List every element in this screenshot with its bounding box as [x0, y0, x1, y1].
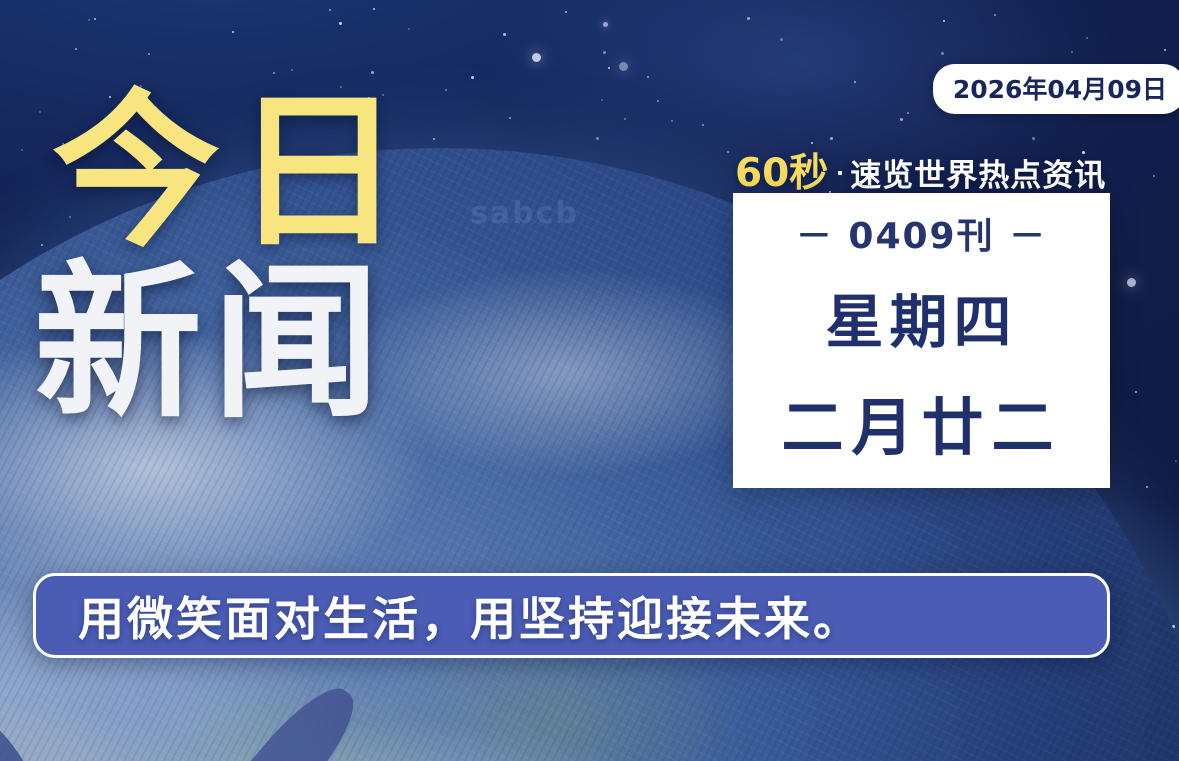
- issue-card: － 0409刊 － 星期四 二月廿二: [733, 193, 1110, 488]
- slogan-bar: 用微笑面对生活，用坚持迎接未来。: [33, 573, 1110, 658]
- tagline-separator: ·: [828, 158, 850, 188]
- tagline-seconds: 60秒: [735, 151, 828, 196]
- tagline-text: 速览世界热点资讯: [850, 158, 1106, 194]
- news-poster: sabcb 今日 新闻 2026年04月09日 60秒·速览世界热点资讯 － 0…: [0, 0, 1179, 761]
- weekday-label: 星期四: [825, 275, 1017, 359]
- title-line-news: 新闻: [34, 263, 472, 424]
- watermark: sabcb: [470, 196, 579, 231]
- page-title: 今日 新闻: [52, 92, 472, 425]
- title-line-today: 今日: [52, 92, 472, 253]
- tagline: 60秒·速览世界热点资讯: [735, 142, 1106, 198]
- lunar-date-label: 二月廿二: [781, 377, 1061, 467]
- date-badge: 2026年04月09日: [933, 64, 1179, 114]
- issue-number: － 0409刊 －: [796, 207, 1047, 259]
- slogan-text: 用微笑面对生活，用坚持迎接未来。: [78, 583, 862, 649]
